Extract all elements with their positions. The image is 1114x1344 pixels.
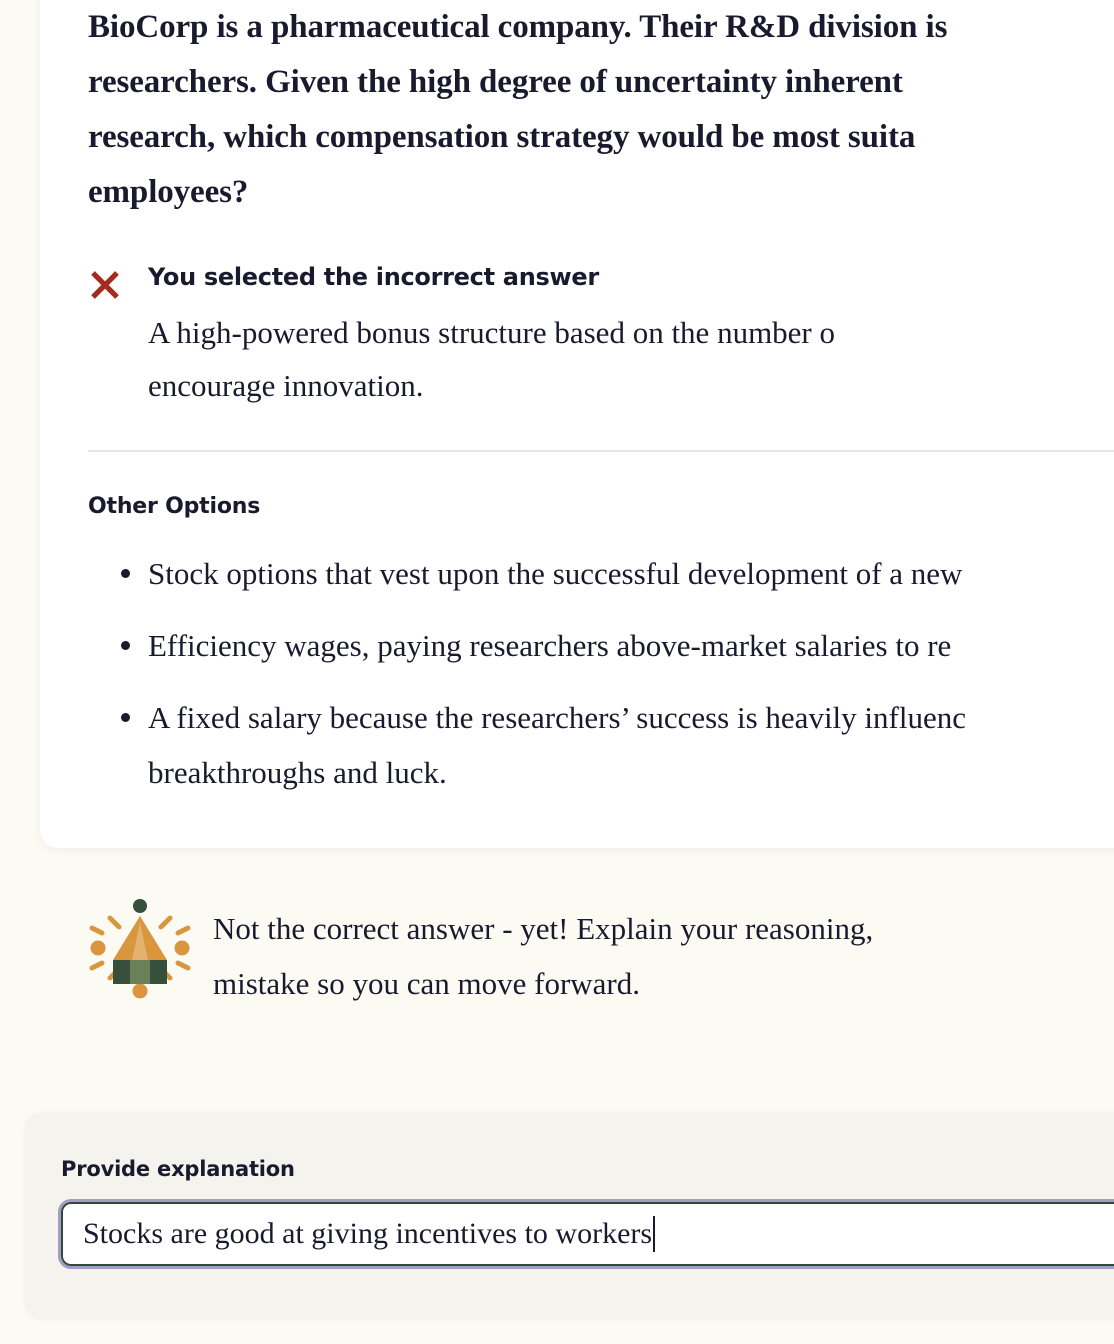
list-item: Stock options that vest upon the success… (88, 546, 1114, 601)
option-line: A fixed salary because the researchers’ … (148, 690, 1114, 745)
feedback-screen: BioCorp is a pharmaceutical company. The… (0, 0, 1114, 1344)
x-mark-icon (88, 268, 122, 302)
hint-message: Not the correct answer - yet! Explain yo… (213, 901, 873, 1011)
incorrect-answer-block: You selected the incorrect answer A high… (88, 262, 1114, 412)
incorrect-answer-heading: You selected the incorrect answer (148, 262, 1114, 292)
explanation-input-panel: Provide explanation Stocks are good at g… (25, 1113, 1114, 1318)
bullet-icon (121, 713, 130, 722)
hint-line: Not the correct answer - yet! Explain yo… (213, 901, 873, 956)
question-line: BioCorp is a pharmaceutical company. The… (88, 0, 1114, 55)
option-line: Efficiency wages, paying researchers abo… (148, 618, 1114, 673)
question-line: employees? (88, 165, 1114, 220)
option-line: breakthroughs and luck. (148, 745, 1114, 800)
list-item: A fixed salary because the researchers’ … (88, 690, 1114, 800)
explanation-input-label: Provide explanation (61, 1157, 295, 1181)
hint-line: mistake so you can move forward. (213, 956, 873, 1011)
question-prompt: BioCorp is a pharmaceutical company. The… (88, 0, 1114, 220)
pencil-sparkle-icon (84, 892, 196, 1004)
bullet-icon (121, 569, 130, 578)
question-line: researchers. Given the high degree of un… (88, 55, 1114, 110)
list-item: Efficiency wages, paying researchers abo… (88, 618, 1114, 673)
other-options-list: Stock options that vest upon the success… (88, 546, 1114, 800)
incorrect-answer-body: You selected the incorrect answer A high… (148, 262, 1114, 412)
option-line: Stock options that vest upon the success… (148, 546, 1114, 601)
section-divider (88, 450, 1114, 452)
bullet-icon (121, 641, 130, 650)
hint-row: Not the correct answer - yet! Explain yo… (84, 893, 1114, 1011)
selected-answer-line: A high-powered bonus structure based on … (148, 306, 1114, 359)
answer-feedback-card: BioCorp is a pharmaceutical company. The… (40, 0, 1114, 848)
selected-answer-text: A high-powered bonus structure based on … (148, 306, 1114, 412)
explanation-input[interactable]: Stocks are good at giving incentives to … (61, 1202, 1114, 1266)
text-caret (653, 1216, 655, 1252)
selected-answer-line: encourage innovation. (148, 359, 1114, 412)
other-options-heading: Other Options (88, 494, 1114, 520)
explanation-input-value[interactable]: Stocks are good at giving incentives to … (83, 1214, 652, 1254)
question-line: research, which compensation strategy wo… (88, 110, 1114, 165)
